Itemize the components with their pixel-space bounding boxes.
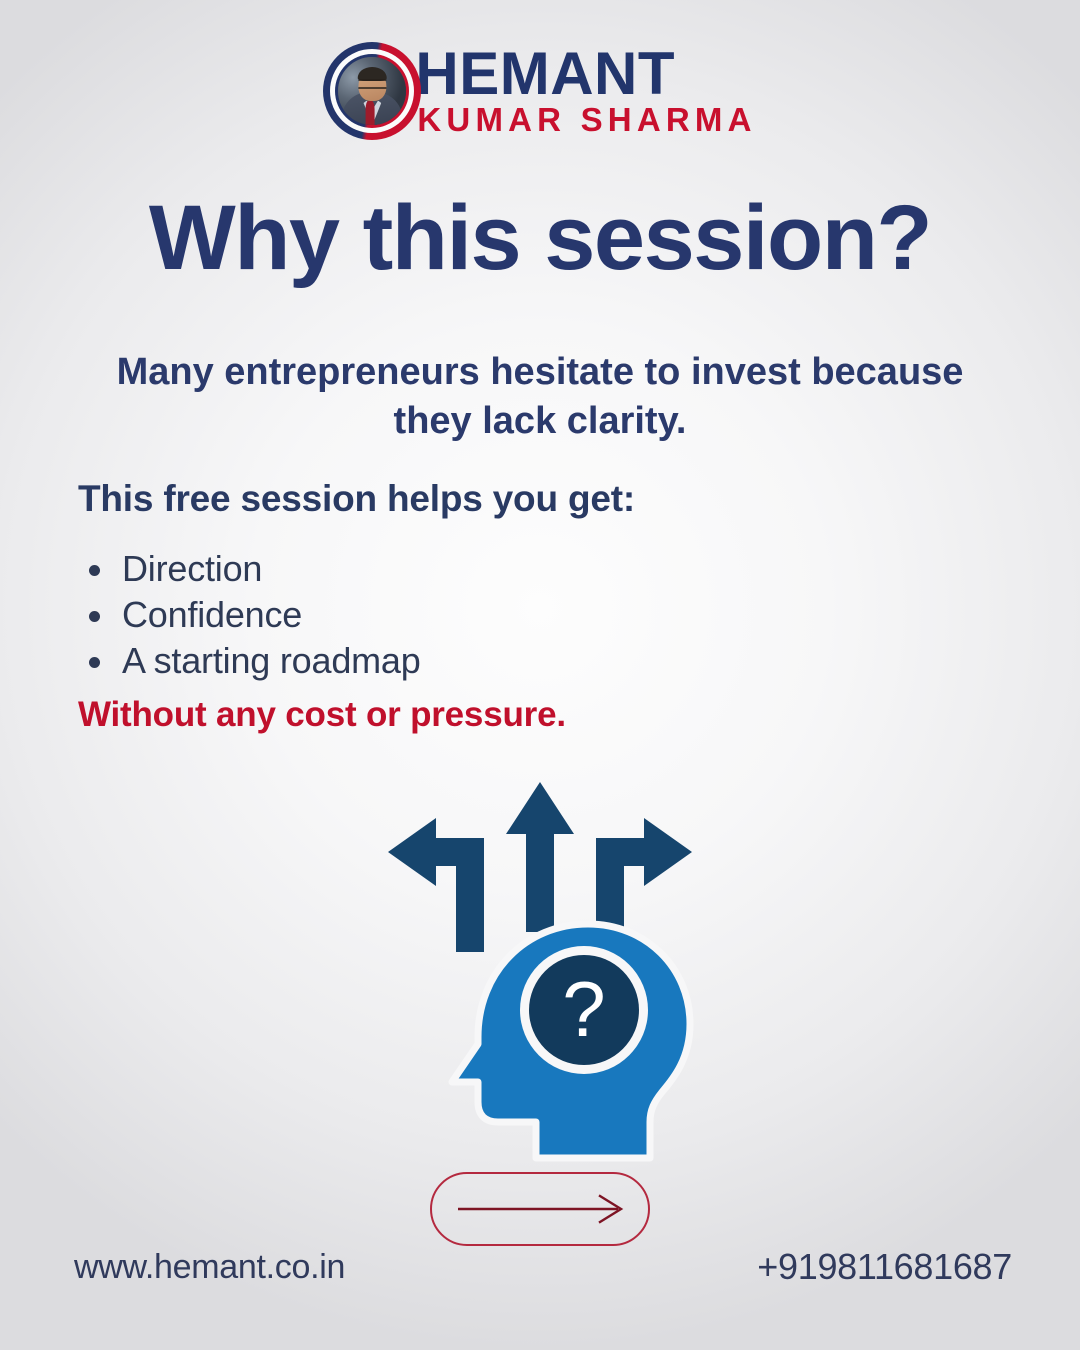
- subheadline: Many entrepreneurs hesitate to invest be…: [90, 348, 990, 445]
- list-item: A starting roadmap: [78, 638, 421, 684]
- bullet-dot-icon: [89, 657, 100, 668]
- logo-first-name: HEMANT: [415, 46, 675, 101]
- arrow-right-icon: [458, 1194, 628, 1224]
- bullet-dot-icon: [89, 611, 100, 622]
- brand-logo: HEMANT KUMAR SHARMA: [0, 42, 1080, 140]
- logo-last-name: KUMAR SHARMA: [417, 103, 756, 136]
- list-intro-text: This free session helps you get:: [78, 478, 635, 520]
- avatar-glasses: [359, 79, 386, 89]
- swipe-next-button[interactable]: [430, 1172, 650, 1246]
- avatar-photo: [338, 57, 406, 125]
- logo-wordmark: HEMANT KUMAR SHARMA: [415, 46, 756, 136]
- list-item: Confidence: [78, 592, 421, 638]
- website-link[interactable]: www.hemant.co.in: [74, 1248, 345, 1287]
- benefits-list: Direction Confidence A starting roadmap: [78, 546, 421, 684]
- avatar: [323, 42, 421, 140]
- list-item-label: Direction: [122, 548, 262, 589]
- poster-canvas: HEMANT KUMAR SHARMA Why this session? Ma…: [0, 0, 1080, 1350]
- bullet-dot-icon: [89, 565, 100, 576]
- list-item-label: A starting roadmap: [122, 640, 421, 681]
- arrow-left-icon: [388, 818, 484, 952]
- arrow-up-icon: [506, 782, 574, 932]
- phone-number[interactable]: +919811681687: [757, 1246, 1012, 1288]
- question-mark-icon: ?: [520, 946, 648, 1074]
- list-item-label: Confidence: [122, 594, 302, 635]
- question-glyph: ?: [562, 965, 605, 1053]
- no-cost-note: Without any cost or pressure.: [78, 695, 566, 735]
- page-title: Why this session?: [0, 192, 1080, 284]
- list-item: Direction: [78, 546, 421, 592]
- avatar-tie: [366, 101, 375, 125]
- head-question-arrows-illustration: ?: [378, 772, 702, 1162]
